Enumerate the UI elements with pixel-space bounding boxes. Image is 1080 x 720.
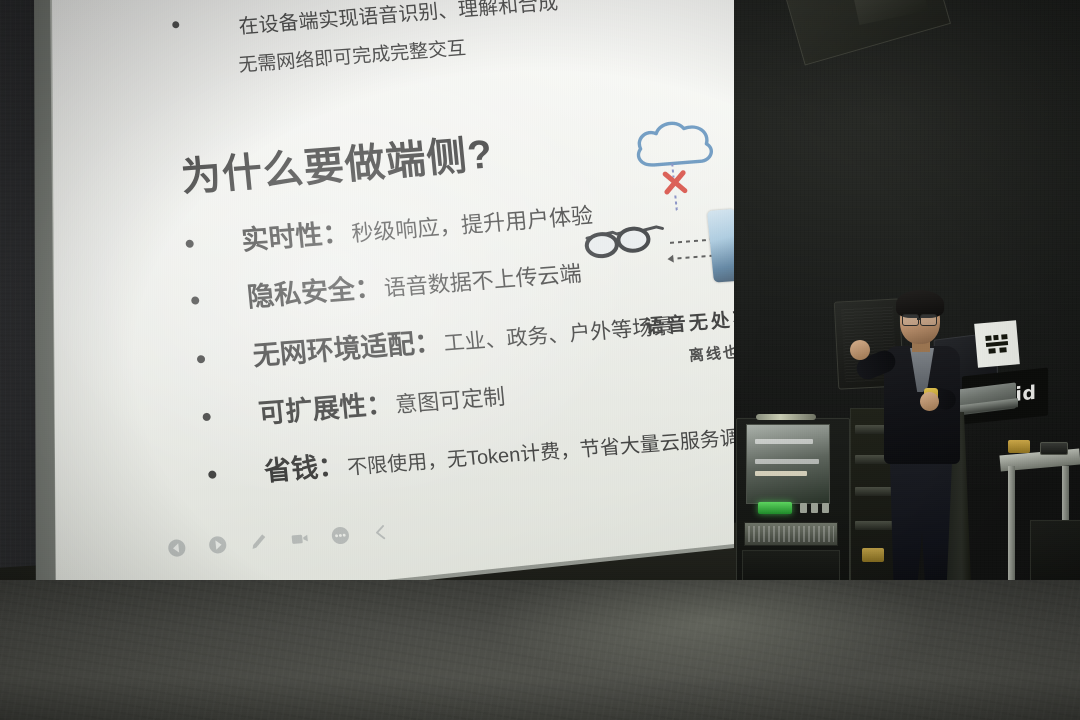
video-button[interactable] [289,528,310,548]
rack-status-led [758,502,792,514]
smart-glasses-icon [582,218,670,266]
projection-screen[interactable]: 什么是端侧语音交互? 在设备端实现语音识别、理解和合成 无需网络即可完成完整交互… [34,0,734,648]
rack-handle [756,414,816,420]
slide-illustration: 语音无处不在 离线也精彩 [570,111,734,354]
red-x-icon [661,168,689,196]
list-item: 实时性 ： 秒级响应，提升用户体验 [184,192,595,262]
smartphone-icon [707,209,734,283]
presenter-eyeglass-right [920,314,937,326]
side-table-leg [1008,466,1015,586]
bullet-separator: ： [412,320,443,361]
presenter-hand-right [920,392,939,411]
bullet-marker [191,296,200,305]
presenter-hand-left [850,340,870,360]
rack-button[interactable] [811,503,818,513]
bullet-value: 秒级响应，提升用户体验 [350,198,594,248]
side-table-item [1008,440,1030,453]
bullet-marker [208,470,217,479]
next-slide-button[interactable] [207,535,228,555]
illustration-caption-main: 语音无处不在 [644,302,734,339]
bullet-key: 省钱 [262,446,320,489]
annotate-pen-button[interactable] [248,532,269,552]
brand-mark-panel [974,320,1020,367]
rack-vent-panel [744,522,838,546]
floor-light-pool [430,580,990,720]
screen-surface[interactable]: 什么是端侧语音交互? 在设备端实现语音识别、理解和合成 无需网络即可完成完整交互… [34,0,734,648]
bullet-separator: ： [316,444,347,485]
rack-button[interactable] [822,503,829,513]
bullet-marker [197,355,206,364]
list-item: 可扩展性 ： 意图可定制 [201,373,507,435]
list-item: 隐私安全 ： 语音数据不上传云端 [189,250,583,319]
illustration-caption-sub: 离线也精彩 [688,338,734,365]
rokid-mark-icon [985,334,1008,354]
bullet-key: 无网环境适配 [251,322,416,373]
arrow-right-icon [670,239,714,244]
previous-slide-button[interactable] [166,538,187,558]
presenter-eyeglass-left [902,314,919,326]
bullet-separator: ： [364,382,395,423]
collapse-toolbar-button[interactable] [371,522,392,542]
bullet-separator: ： [353,265,384,306]
bullet-marker [185,239,194,248]
side-table-device [1040,442,1068,455]
rack-button[interactable] [800,503,807,513]
presenter [860,296,980,626]
bullet-key: 可扩展性 [256,384,368,431]
slide-content: 什么是端侧语音交互? 在设备端实现语音识别、理解和合成 无需网络即可完成完整交互… [34,0,734,625]
bullet-value: 语音数据不上传云端 [382,256,583,303]
arrow-left-icon [669,255,713,260]
bullet-value: 意图可定制 [394,379,507,419]
bullet-key: 实时性 [240,213,325,258]
more-options-button[interactable] [330,525,351,545]
bullet-key: 隐私安全 [245,267,357,314]
rack-glass-door [746,424,830,504]
presenter-eyeglass-bridge [917,318,921,320]
bullet-marker [202,413,211,422]
cloud-link-dash-lower [674,195,678,211]
scene-root: 什么是端侧语音交互? 在设备端实现语音识别、理解和合成 无需网络即可完成完整交互… [0,0,1080,720]
bullet-value: 不限使用，无Token计费，节省大量云服务调用费用 [346,417,734,481]
bullet-separator: ： [320,211,351,252]
